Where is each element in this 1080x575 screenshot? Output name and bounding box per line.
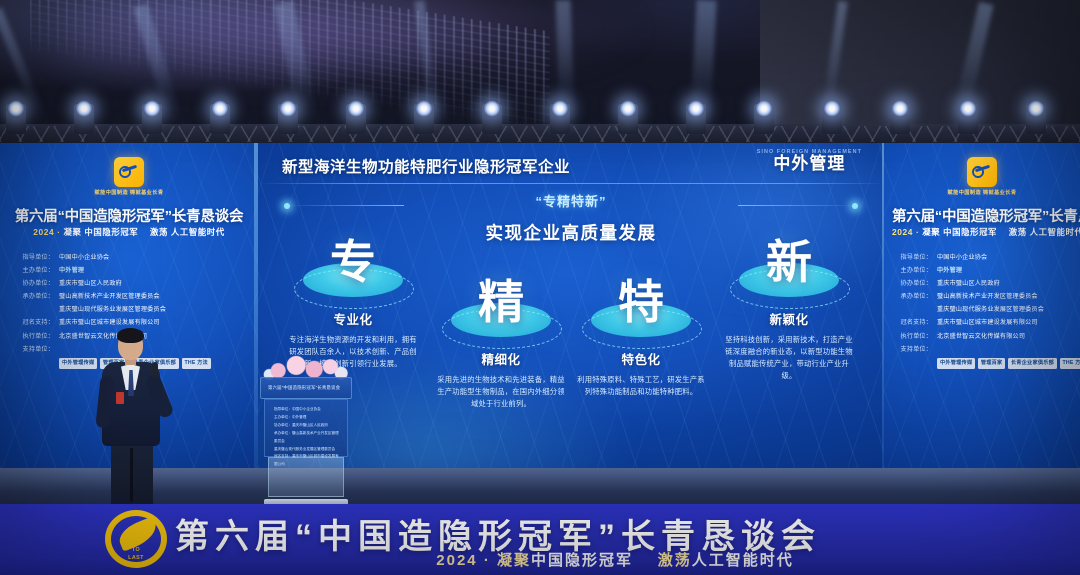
support-chip: 中外管理传媒 [59, 358, 97, 369]
right-led-panel: 赋能中国制造 铸就基业长青 第六届“中国造隐形冠军”长青恳谈会 2024 · 凝… [884, 143, 1080, 468]
podium-body: 指导单位：中国中小企业协会主办单位：中外管理协办单位：重庆市璧山区人民政府承办单… [264, 399, 348, 457]
pillar-description: 坚持科技创新，采用新技术，打造产业链深度融合的新业态，以新型功能生物制品赋能传统… [714, 334, 864, 382]
credit-key: 支持单位： [16, 343, 54, 356]
chip-row-spacer [16, 356, 54, 369]
center-header-title: 新型海洋生物功能特肥行业隐形冠军企业 [282, 155, 570, 177]
side-sub-a: 凝聚 中国隐形冠军 [64, 227, 139, 237]
stage-lamp [278, 104, 298, 134]
credit-value: 中外管理 [937, 264, 962, 277]
stage-lamp [346, 104, 366, 134]
pillar-label: 专业化 [278, 309, 428, 328]
speaker-person [94, 330, 170, 508]
podium-credit-line: 主办单位：中外管理 [274, 414, 340, 422]
credit-value: 璧山高新技术产业开发区管理委员会 [59, 290, 160, 303]
right-panel-credits: 指导单位：中国中小企业协会主办单位：中外管理协办单位：重庆市璧山区人民政府承办单… [894, 251, 1080, 369]
podium-header-text: 第六届“中国造隐形冠军”长青恳谈会 [268, 385, 340, 391]
credit-row: 承办单位：璧山高新技术产业开发区管理委员会 [894, 290, 1080, 303]
right-panel-subtitle: 2024 · 凝聚 中国隐形冠军 激荡 人工智能时代 [892, 226, 1080, 238]
logo-line-1: BUILT [127, 539, 144, 545]
banner-sub-sep: · [484, 552, 491, 569]
conference-stage-scene: 赋能中国制造 铸就基业长青 第六届“中国造隐形冠军”长青恳谈会 2024 · 凝… [0, 0, 1080, 575]
banner-sub-year: 2024 [436, 552, 477, 569]
support-chip: 管理百家 [978, 358, 1006, 369]
pillar-label: 精细化 [426, 349, 576, 368]
banner-subtitle: 2024 · 凝聚中国隐形冠军 激荡人工智能时代 [175, 549, 1055, 570]
truss-lattice [0, 126, 1080, 142]
support-chip: 中外管理传媒 [937, 358, 975, 369]
side-sub-sep: · [57, 227, 60, 237]
podium-acrylic-panel [268, 457, 344, 497]
chip-row-spacer [894, 356, 932, 369]
right-panel-title: 第六届“中国造隐形冠军”长青恳谈会 [892, 205, 1080, 226]
podium-credit-line: 协办单位：重庆市璧山区人民政府 [274, 422, 340, 430]
podium-credit-line: 指导单位：中国中小企业协会 [274, 406, 340, 414]
support-chip: 长青企业家俱乐部 [1008, 358, 1057, 369]
header-divider [258, 183, 884, 184]
credit-key: 冠名支持： [16, 316, 54, 329]
side-logo-right: 赋能中国制造 铸就基业长青 [922, 157, 1042, 198]
pillar-精细化: 精精细化采用先进的生物技术和先进装备，精益生产功能型生物制品，在国内外细分领域处… [426, 279, 576, 410]
side-logo: 赋能中国制造 铸就基业长青 [69, 157, 189, 198]
credit-key: 指导单位： [16, 251, 54, 264]
brand-chinese: 中外管理 [757, 155, 862, 173]
stage-lamp [74, 104, 94, 134]
credit-row: 指导单位：中国中小企业协会 [894, 251, 1080, 264]
credit-value: 重庆璧山现代服务业发展区管理委员会 [937, 303, 1044, 316]
credit-key: 承办单位： [16, 290, 54, 303]
side-sub-b-right: 激荡 人工智能时代 [1009, 227, 1080, 237]
banner-sub-c: 激荡 [658, 552, 692, 569]
credit-key: 执行单位： [894, 330, 932, 343]
stage-lamp [686, 104, 706, 134]
support-chip: THE 方法 [182, 358, 211, 369]
credit-value: 中国中小企业协会 [59, 251, 109, 264]
side-sub-year: 2024 [33, 227, 54, 237]
pillar-description: 利用特殊原料、特殊工艺，研发生产系列特殊功能制品和功能特种肥料。 [566, 374, 716, 398]
credit-key: 冠名支持： [894, 316, 932, 329]
microphone-icon [152, 362, 158, 378]
credit-value: 重庆市璧山区城市建设发展有限公司 [59, 316, 160, 329]
side-sub-year-right: 2024 [892, 227, 913, 237]
credit-row: 重庆璧山现代服务业发展区管理委员会 [16, 303, 248, 316]
support-chip: THE 方法 [1060, 358, 1080, 369]
stage-lamp [142, 104, 162, 134]
pillar-description: 采用先进的生物技术和先进装备，精益生产功能型生物制品，在国内外细分领域处于行业前… [426, 374, 576, 410]
speaker-hair [117, 328, 144, 343]
credit-key [16, 303, 54, 316]
stage-lamp [482, 104, 502, 134]
banner-sub-d: 人工智能时代 [692, 552, 794, 569]
pillar-glyph: 新 [714, 239, 864, 285]
speaker-lanyard-badge [116, 392, 124, 404]
credit-key [894, 303, 932, 316]
side-sub-sep-right: · [916, 227, 919, 237]
built-to-last-logo: BUILT TO LAST [105, 510, 167, 568]
side-sub-b: 激荡 人工智能时代 [150, 227, 225, 237]
credit-key: 执行单位： [16, 330, 54, 343]
credit-value: 重庆市璧山区人民政府 [937, 277, 1000, 290]
podium-header-plate: 第六届“中国造隐形冠军”长青恳谈会 [260, 377, 352, 399]
side-sub-a-right: 凝聚 中国隐形冠军 [922, 227, 997, 237]
sino-foreign-management-brand: SINO FOREIGN MANAGEMENT 中外管理 [757, 149, 862, 173]
support-chips: 中外管理传媒管理百家长青企业家俱乐部THE 方法 [937, 356, 1080, 369]
credit-value: 重庆市璧山区城市建设发展有限公司 [937, 316, 1038, 329]
stage-lamp [958, 104, 978, 134]
credit-row: 冠名支持：重庆市璧山区城市建设发展有限公司 [894, 316, 1080, 329]
podium: 第六届“中国造隐形冠军”长青恳谈会 指导单位：中国中小企业协会主办单位：中外管理… [258, 355, 354, 505]
banner-sub-a: 凝聚 [497, 552, 531, 569]
pillar-glyph: 精 [426, 279, 576, 325]
ceiling-area [0, 0, 1080, 142]
stage-lamp [210, 104, 230, 134]
side-logo-slogan: 赋能中国制造 铸就基业长青 [69, 190, 189, 198]
left-panel-subtitle: 2024 · 凝聚 中国隐形冠军 激荡 人工智能时代 [0, 226, 258, 238]
pillar-新颖化: 新新颖化坚持科技创新，采用新技术，打造产业链深度融合的新业态，以新型功能生物制品… [714, 239, 864, 382]
credit-key: 指导单位： [894, 251, 932, 264]
stage-lamp [6, 104, 26, 134]
pillar-label: 特色化 [566, 349, 716, 368]
center-kicker: “专精特新” [258, 191, 884, 210]
pillar-glyph: 专 [278, 239, 428, 285]
support-chip-row: 中外管理传媒管理百家长青企业家俱乐部THE 方法 [894, 356, 1080, 369]
credit-row: 承办单位：璧山高新技术产业开发区管理委员会 [16, 290, 248, 303]
credit-key: 协办单位： [894, 277, 932, 290]
pillar-专业化: 专专业化专注海洋生物资源的开发和利用，拥有研发团队百余人，以技术创新、产品创新、… [278, 239, 428, 370]
logo-line-2: TO [132, 547, 140, 553]
speaker-legs [111, 442, 153, 504]
credit-row: 重庆璧山现代服务业发展区管理委员会 [894, 303, 1080, 316]
stage-lamp [1026, 104, 1046, 134]
credit-value: 北京盛世智云文化传媒有限公司 [937, 330, 1025, 343]
credit-row: 协办单位：重庆市璧山区人民政府 [16, 277, 248, 290]
stage-lamp [754, 104, 774, 134]
side-logo-slogan-right: 赋能中国制造 铸就基业长青 [922, 190, 1042, 198]
credit-row: 主办单位：中外管理 [16, 264, 248, 277]
stage-lamp [414, 104, 434, 134]
credit-value: 重庆璧山现代服务业发展区管理委员会 [59, 303, 166, 316]
pillar-特色化: 特特色化利用特殊原料、特殊工艺，研发生产系列特殊功能制品和功能特种肥料。 [566, 279, 716, 398]
credit-value: 重庆市璧山区人民政府 [59, 277, 122, 290]
stage-lamp [550, 104, 570, 134]
credit-value: 中国中小企业协会 [937, 251, 987, 264]
podium-credit-line: 重庆璧山现代服务业发展区管理委员会 [274, 446, 340, 454]
brand-english: SINO FOREIGN MANAGEMENT [757, 149, 862, 155]
pillar-glyph: 特 [566, 279, 716, 325]
credit-row: 支持单位： [894, 343, 1080, 356]
credit-key: 主办单位： [894, 264, 932, 277]
eagle-logo-icon-right [967, 157, 997, 187]
credit-key: 协办单位： [16, 277, 54, 290]
eagle-logo-icon [114, 157, 144, 187]
banner-sub-b: 中国隐形冠军 [531, 552, 633, 569]
logo-built-to-last-text: BUILT TO LAST [105, 538, 167, 562]
credit-row: 指导单位：中国中小企业协会 [16, 251, 248, 264]
credit-row: 主办单位：中外管理 [894, 264, 1080, 277]
credit-key: 支持单位： [894, 343, 932, 356]
credit-value: 璧山高新技术产业开发区管理委员会 [937, 290, 1038, 303]
stage-lamp [822, 104, 842, 134]
stage-lamp [618, 104, 638, 134]
center-header-row: 新型海洋生物功能特肥行业隐形冠军企业 SINO FOREIGN MANAGEME… [258, 151, 884, 177]
stage-lamp [890, 104, 910, 134]
left-panel-title: 第六届“中国造隐形冠军”长青恳谈会 [0, 205, 258, 226]
credit-key: 主办单位： [16, 264, 54, 277]
credit-row: 协办单位：重庆市璧山区人民政府 [894, 277, 1080, 290]
credit-key: 承办单位： [894, 290, 932, 303]
pillar-label: 新颖化 [714, 309, 864, 328]
credit-row: 执行单位：北京盛世智云文化传媒有限公司 [894, 330, 1080, 343]
logo-line-3: LAST [128, 555, 144, 561]
podium-credit-line: 承办单位：璧山高新技术产业开发区管理委员会 [274, 430, 340, 446]
credit-value: 中外管理 [59, 264, 84, 277]
